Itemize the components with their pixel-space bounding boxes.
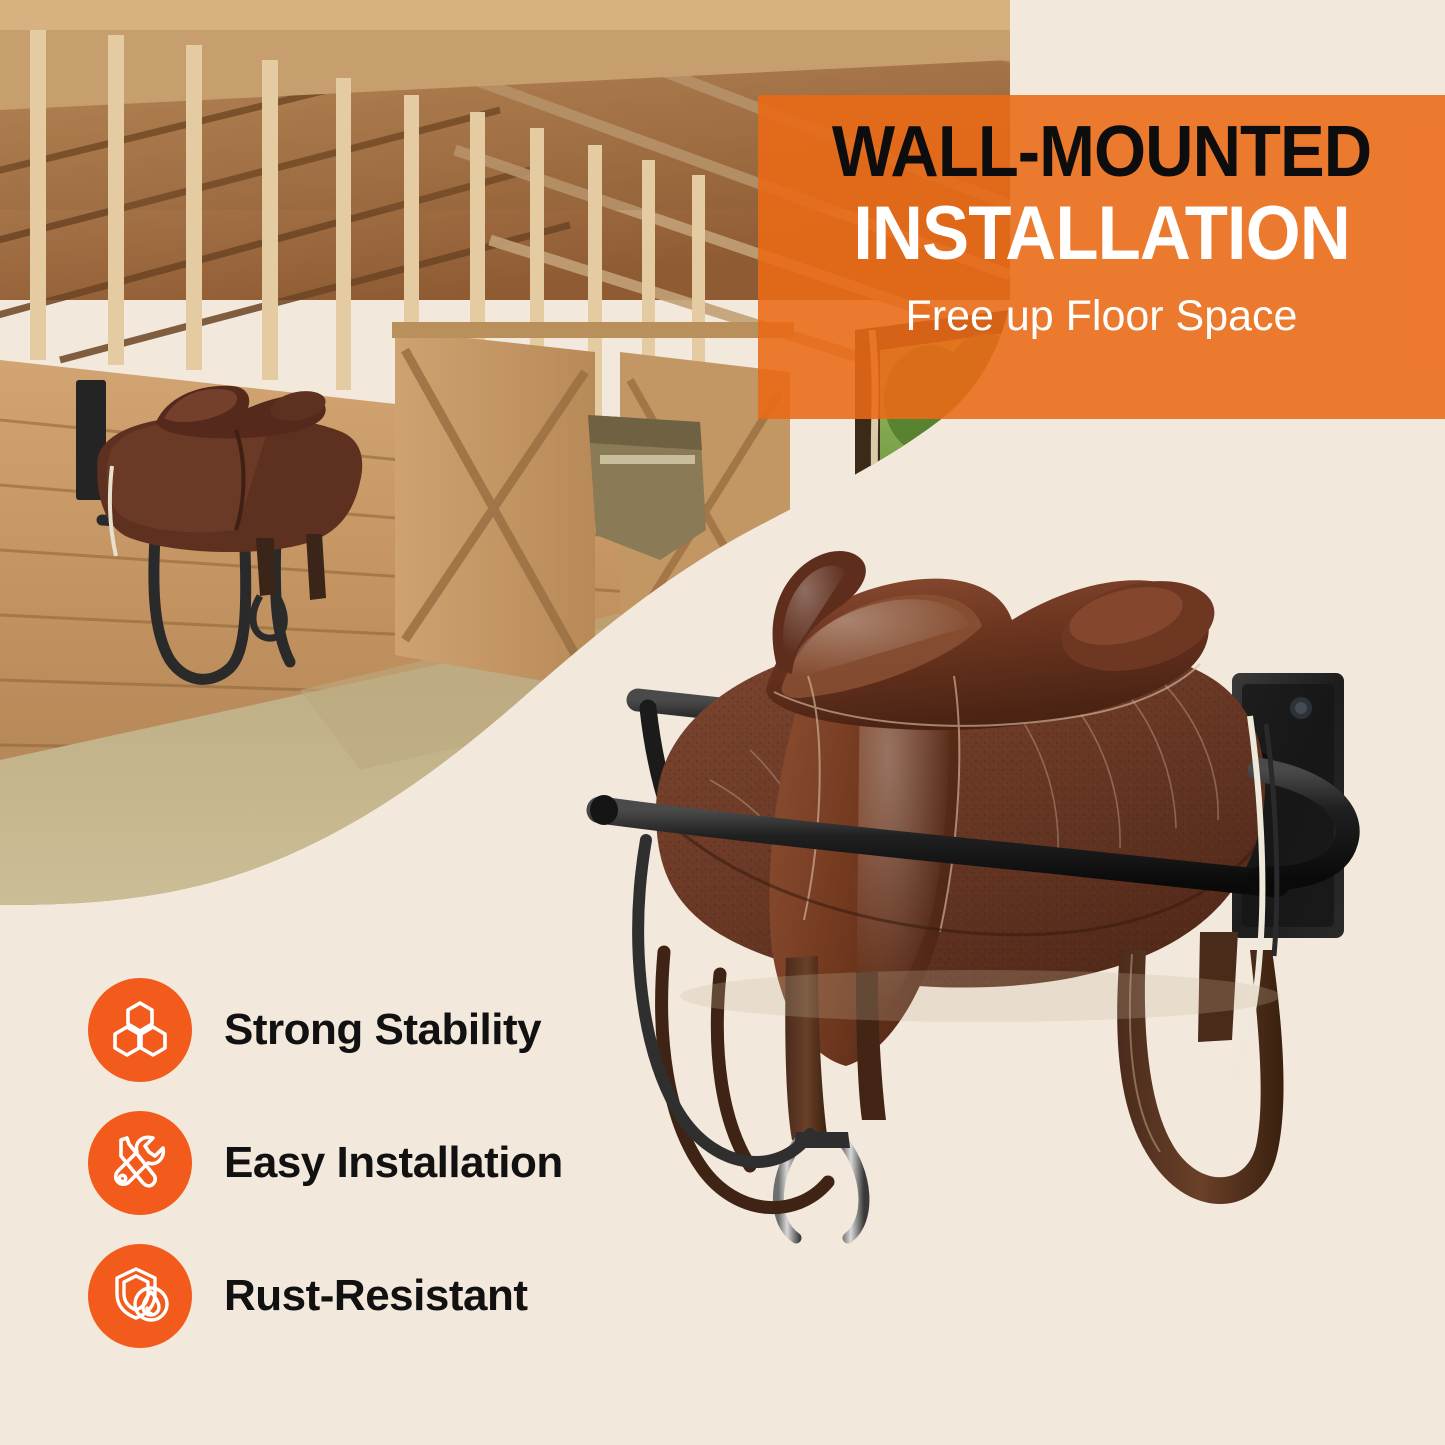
headline-subtitle: Free up Floor Space — [786, 291, 1417, 343]
headline-line1: WALL-MOUNTED — [808, 117, 1395, 188]
feature-item-rust-resistant: Rust-Resistant — [88, 1241, 563, 1351]
feature-badge — [88, 1244, 192, 1348]
headline-line2: INSTALLATION — [808, 194, 1395, 274]
feature-label: Easy Installation — [224, 1138, 563, 1188]
feature-label: Strong Stability — [224, 1005, 541, 1055]
feature-badge — [88, 1111, 192, 1215]
wrench-screwdriver-tools-icon — [109, 1130, 171, 1197]
shield-water-drop-icon — [109, 1263, 171, 1330]
product-feature-image: WALL-MOUNTED INSTALLATION Free up Floor … — [0, 0, 1445, 1445]
feature-item-easy-installation: Easy Installation — [88, 1108, 563, 1218]
feature-item-strong-stability: Strong Stability — [88, 975, 563, 1085]
headline-banner: WALL-MOUNTED INSTALLATION Free up Floor … — [758, 95, 1445, 419]
honeycomb-hexagons-icon — [109, 997, 171, 1064]
feature-list: Strong Stability Easy Installation — [88, 975, 563, 1374]
wall-mounted-saddle-rack-with-saddle — [560, 480, 1445, 1300]
feature-badge — [88, 978, 192, 1082]
feature-label: Rust-Resistant — [224, 1271, 528, 1321]
